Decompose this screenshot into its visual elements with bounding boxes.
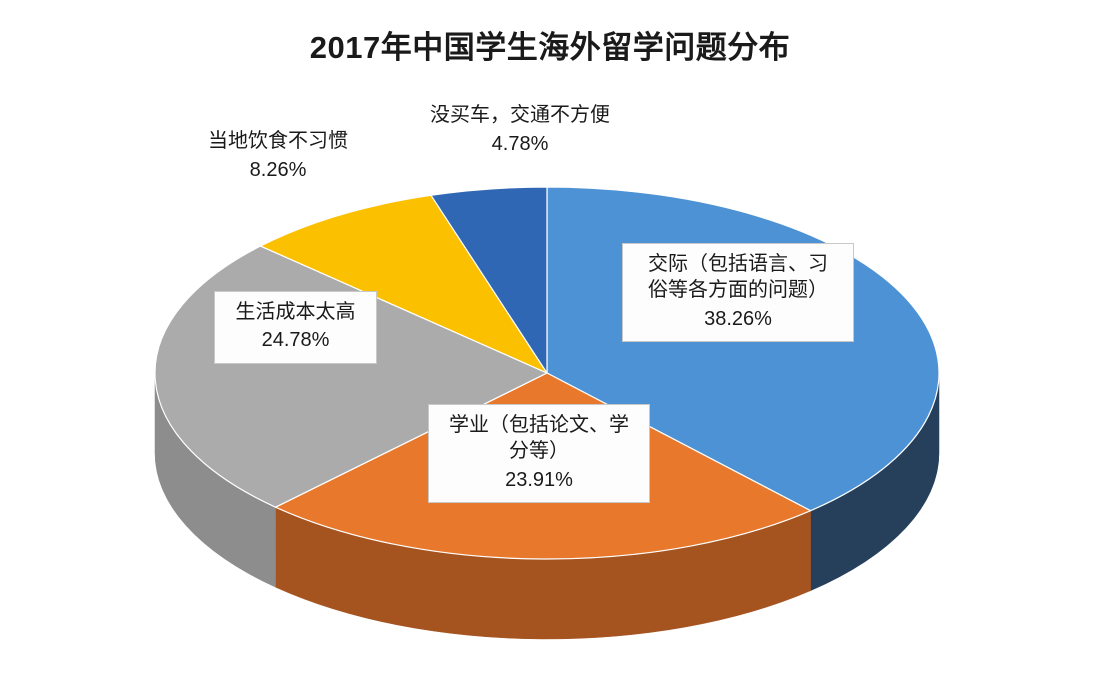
slice-label-no-car-transport[interactable]: 没买车，交通不方便 4.78% [400, 101, 640, 159]
slice-label-local-food[interactable]: 当地饮食不习惯 8.26% [168, 127, 388, 185]
slice-value-communication: 38.26% [631, 306, 845, 332]
slice-value-local-food: 8.26% [168, 156, 388, 185]
chart-canvas: 2017年中国学生海外留学问题分布 交际（包括语言、习 俗等各方面的问题） 38… [0, 0, 1100, 676]
slice-label-academics-line1: 学业（包括论文、学 [449, 414, 629, 436]
slice-value-academics: 23.91% [437, 467, 641, 493]
slice-label-academics-line2: 分等） [509, 440, 569, 462]
slice-label-communication[interactable]: 交际（包括语言、习 俗等各方面的问题） 38.26% [622, 243, 854, 342]
slice-label-communication-line1: 交际（包括语言、习 [648, 253, 828, 275]
slice-label-living-cost[interactable]: 生活成本太高 24.78% [214, 291, 377, 364]
slice-label-living-cost-line1: 生活成本太高 [236, 301, 356, 323]
slice-label-communication-line2: 俗等各方面的问题） [648, 279, 828, 301]
slice-value-no-car-transport: 4.78% [400, 130, 640, 159]
slice-label-local-food-text: 当地饮食不习惯 [208, 130, 348, 152]
slice-value-living-cost: 24.78% [223, 327, 368, 353]
slice-label-no-car-transport-text: 没买车，交通不方便 [430, 104, 610, 126]
slice-label-academics[interactable]: 学业（包括论文、学 分等） 23.91% [428, 404, 650, 503]
